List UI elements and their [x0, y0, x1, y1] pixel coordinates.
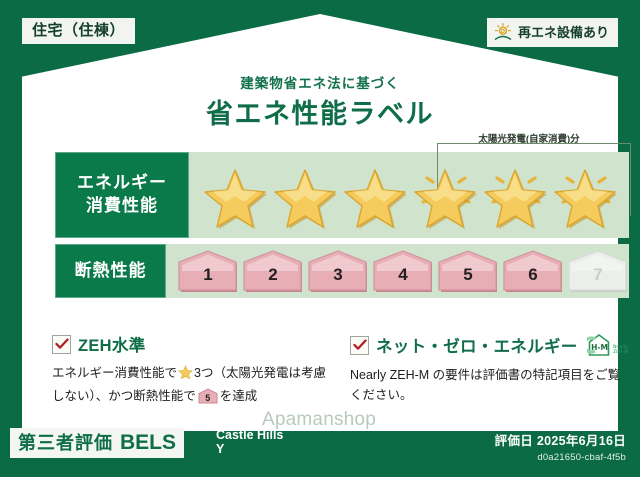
evaluation-info: 評価日 2025年6月16日 d0a21650-cbaf-4f5b: [495, 430, 626, 463]
energy-label-root: 住宅（住棟） D 再エネ設備あり 建築物省エ: [0, 0, 640, 477]
net-zero-energy-head: ネット・ゼロ・エネルギー H-M Nearly ZEH-M: [350, 332, 632, 358]
zeh-standard-title: ZEH水準: [78, 332, 146, 356]
evaluation-date: 評価日 2025年6月16日: [495, 430, 626, 449]
energy-label-line2: 消費性能: [86, 195, 158, 218]
zeh-standard-head: ZEH水準: [52, 332, 334, 356]
sun-solar-icon: D: [493, 22, 513, 42]
insulation-performance-label: 断熱性能: [55, 244, 166, 298]
check-icon: [353, 339, 367, 351]
bels-jp-label: 第三者評価: [18, 434, 113, 452]
svg-text:ZEH-M: ZEH-M: [613, 349, 628, 355]
insulation-grade-active: 4: [372, 249, 434, 293]
insulation-grade-active: 6: [502, 249, 564, 293]
energy-label-line1: エネルギー: [77, 172, 167, 195]
zeh-body-part3: を達成: [220, 389, 258, 403]
zeh-standard-checkbox: [52, 335, 71, 354]
insulation-grade-active: 2: [242, 249, 304, 293]
net-zero-energy-body: Nearly ZEH-M の要件は評価書の特記項目をご覧ください。: [350, 365, 632, 406]
net-zero-checkbox: [350, 336, 369, 355]
building-type-tag: 住宅（住棟）: [22, 18, 135, 44]
insulation-grade-value: 2: [242, 265, 304, 285]
evaluation-id: d0a21650-cbaf-4f5b: [495, 452, 626, 463]
bels-third-party-badge: 第三者評価 BELS: [10, 428, 184, 458]
zeh-standard-note: ZEH水準 エネルギー消費性能で 3つ（太陽光発電は考慮しない）、かつ断熱性能で…: [52, 332, 334, 407]
label-subtitle: 建築物省エネ法に基づく: [22, 72, 618, 92]
insulation-grade-value: 6: [502, 265, 564, 285]
insulation-grade-scale: 1234567: [166, 249, 629, 293]
inline-star-icon: [178, 365, 193, 386]
insulation-grade-active: 3: [307, 249, 369, 293]
insulation-performance-body: 1234567: [166, 244, 629, 298]
insulation-grade-value: 1: [177, 265, 239, 285]
star-icon: [343, 160, 409, 230]
star-solar-icon: [413, 160, 479, 230]
net-zero-energy-title: ネット・ゼロ・エネルギー: [376, 333, 578, 357]
renewable-badge-label: 再エネ設備あり: [518, 26, 609, 39]
energy-performance-row: エネルギー 消費性能 太陽光発電(自家消費)分: [55, 152, 629, 238]
insulation-grade-value: 7: [567, 265, 629, 285]
criteria-notes: ZEH水準 エネルギー消費性能で 3つ（太陽光発電は考慮しない）、かつ断熱性能で…: [52, 332, 632, 407]
insulation-grade-value: 4: [372, 265, 434, 285]
renewable-equipment-badge: D 再エネ設備あり: [487, 18, 618, 47]
nearly-zehm-logo: H-M Nearly ZEH-M: [587, 332, 631, 358]
star-solar-icon: [483, 160, 549, 230]
insulation-grade-inactive: 7: [567, 249, 629, 293]
check-icon: [55, 338, 69, 350]
svg-text:H-M: H-M: [591, 343, 608, 352]
insulation-label-text: 断熱性能: [75, 260, 147, 283]
metrics-rows: エネルギー 消費性能 太陽光発電(自家消費)分 断熱性能 1234567: [55, 152, 629, 304]
insulation-grade-value: 3: [307, 265, 369, 285]
svg-text:D: D: [501, 29, 505, 35]
energy-performance-body: 太陽光発電(自家消費)分: [189, 152, 629, 238]
insulation-grade-value: 5: [437, 265, 499, 285]
inline-house-icon: 5: [198, 388, 218, 404]
star-rating: [189, 160, 619, 230]
label-card-content: 住宅（住棟） D 再エネ設備あり 建築物省エ: [22, 14, 618, 446]
insulation-grade-active: 5: [437, 249, 499, 293]
net-zero-energy-note: ネット・ゼロ・エネルギー H-M Nearly ZEH-M Nearly ZEH…: [350, 332, 632, 407]
insulation-performance-row: 断熱性能 1234567: [55, 244, 629, 298]
zeh-standard-body: エネルギー消費性能で 3つ（太陽光発電は考慮しない）、かつ断熱性能で 5 を達成: [52, 363, 334, 407]
energy-performance-label: エネルギー 消費性能: [55, 152, 189, 238]
insulation-grade-active: 1: [177, 249, 239, 293]
inline-house-value: 5: [198, 391, 218, 406]
zeh-body-part1: エネルギー消費性能で: [52, 366, 177, 380]
star-icon: [203, 160, 269, 230]
bels-en-label: BELS: [120, 432, 176, 453]
label-title: 省エネ性能ラベル: [22, 92, 618, 131]
star-icon: [273, 160, 339, 230]
star-solar-icon: [553, 160, 619, 230]
